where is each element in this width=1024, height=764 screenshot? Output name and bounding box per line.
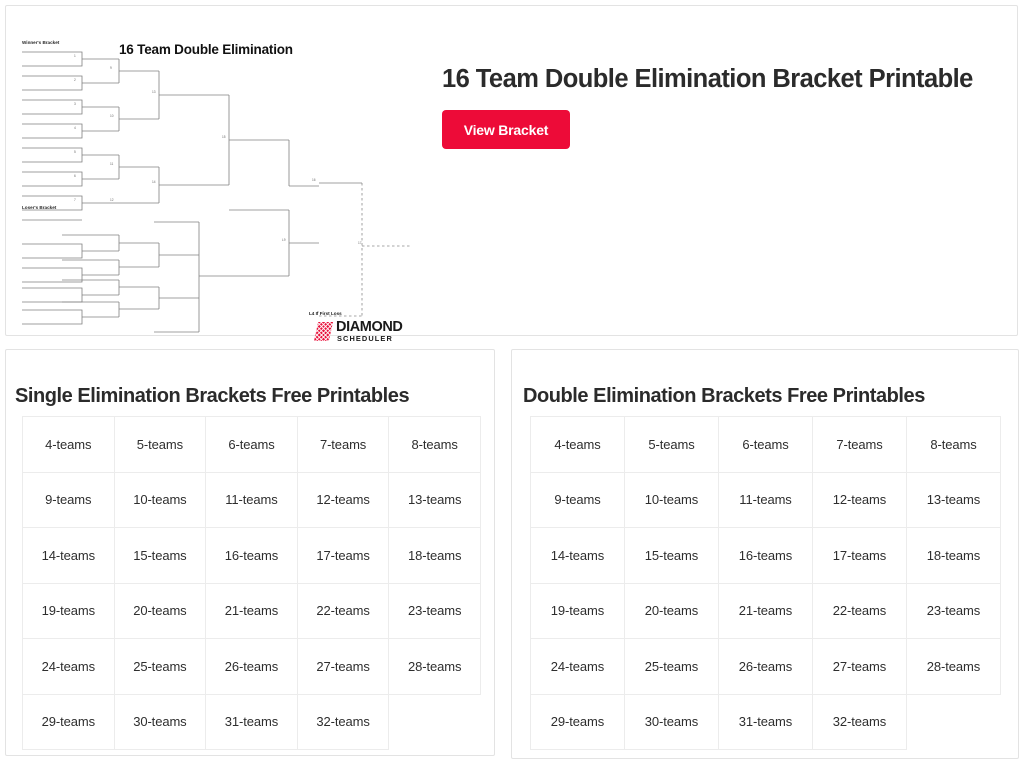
bracket-link[interactable]: 19-teams bbox=[551, 603, 604, 618]
bracket-link[interactable]: 18-teams bbox=[408, 548, 461, 563]
bracket-link-cell[interactable]: 8-teams bbox=[389, 417, 481, 473]
bracket-link-cell[interactable]: 12-teams bbox=[813, 472, 907, 528]
bracket-link[interactable]: 11-teams bbox=[739, 492, 791, 507]
bracket-link[interactable]: 12-teams bbox=[833, 492, 886, 507]
bracket-link-cell[interactable]: 10-teams bbox=[625, 472, 719, 528]
svg-text:12: 12 bbox=[110, 198, 114, 202]
bracket-link-cell[interactable]: 31-teams bbox=[206, 694, 298, 750]
bracket-link-cell[interactable]: 26-teams bbox=[719, 639, 813, 695]
svg-text:13: 13 bbox=[152, 90, 156, 94]
bracket-link-cell[interactable]: 13-teams bbox=[389, 472, 481, 528]
svg-text:4: 4 bbox=[74, 126, 76, 130]
svg-text:9: 9 bbox=[110, 66, 112, 70]
bracket-link[interactable]: 7-teams bbox=[836, 437, 882, 452]
bracket-link-cell[interactable]: 14-teams bbox=[23, 528, 115, 584]
bracket-preview-image[interactable]: Winner's Bracket 16 Team Double Eliminat… bbox=[14, 14, 426, 334]
single-elimination-heading: Single Elimination Brackets Free Printab… bbox=[15, 385, 409, 408]
bracket-link[interactable]: 11-teams bbox=[225, 492, 277, 507]
bracket-link[interactable]: 5-teams bbox=[648, 437, 694, 452]
bracket-link[interactable]: 13-teams bbox=[408, 492, 461, 507]
bracket-link-cell[interactable]: 29-teams bbox=[23, 694, 115, 750]
bracket-link-cell[interactable]: 19-teams bbox=[531, 583, 625, 639]
bracket-link[interactable]: 25-teams bbox=[133, 659, 186, 674]
svg-text:2: 2 bbox=[74, 78, 76, 82]
bracket-link-cell[interactable]: 27-teams bbox=[813, 639, 907, 695]
bracket-link[interactable]: 15-teams bbox=[133, 548, 186, 563]
bracket-link-cell[interactable]: 22-teams bbox=[297, 583, 389, 639]
bracket-link-cell[interactable]: 30-teams bbox=[625, 694, 719, 750]
first-loss-note: L4 If First Loss bbox=[309, 311, 342, 316]
bracket-link[interactable]: 6-teams bbox=[228, 437, 274, 452]
bracket-link-cell[interactable]: 14-teams bbox=[531, 528, 625, 584]
bracket-link[interactable]: 23-teams bbox=[927, 603, 980, 618]
table-row: 4-teams5-teams6-teams7-teams8-teams bbox=[23, 417, 481, 473]
bracket-link[interactable]: 27-teams bbox=[316, 659, 369, 674]
svg-text:17: 17 bbox=[358, 241, 362, 245]
bracket-link-cell[interactable]: 21-teams bbox=[719, 583, 813, 639]
bracket-link[interactable]: 20-teams bbox=[133, 603, 186, 618]
double-elimination-table-body: 4-teams5-teams6-teams7-teams8-teams9-tea… bbox=[531, 417, 1001, 750]
single-elimination-table-body: 4-teams5-teams6-teams7-teams8-teams9-tea… bbox=[23, 417, 481, 750]
bracket-link-cell[interactable]: 25-teams bbox=[625, 639, 719, 695]
bracket-link[interactable]: 9-teams bbox=[554, 492, 600, 507]
bracket-link-cell[interactable]: 19-teams bbox=[23, 583, 115, 639]
table-row: 4-teams5-teams6-teams7-teams8-teams bbox=[531, 417, 1001, 473]
bracket-link-cell[interactable]: 5-teams bbox=[625, 417, 719, 473]
bracket-link[interactable]: 16-teams bbox=[739, 548, 792, 563]
table-row: 9-teams10-teams11-teams12-teams13-teams bbox=[531, 472, 1001, 528]
bracket-link[interactable]: 25-teams bbox=[645, 659, 698, 674]
double-elimination-card: Double Elimination Brackets Free Printab… bbox=[511, 349, 1019, 759]
diamond-logo-icon bbox=[314, 322, 333, 341]
bracket-link[interactable]: 14-teams bbox=[42, 548, 95, 563]
bracket-link-cell[interactable]: 32-teams bbox=[297, 694, 389, 750]
bracket-link-cell[interactable]: 6-teams bbox=[719, 417, 813, 473]
bracket-link[interactable]: 16-teams bbox=[225, 548, 278, 563]
bracket-link[interactable]: 26-teams bbox=[739, 659, 792, 674]
single-elimination-table: 4-teams5-teams6-teams7-teams8-teams9-tea… bbox=[22, 416, 481, 750]
table-row: 24-teams25-teams26-teams27-teams28-teams bbox=[531, 639, 1001, 695]
bracket-link-cell[interactable]: 24-teams bbox=[23, 639, 115, 695]
bracket-link-cell[interactable]: 12-teams bbox=[297, 472, 389, 528]
bracket-link[interactable]: 24-teams bbox=[42, 659, 95, 674]
double-elimination-table: 4-teams5-teams6-teams7-teams8-teams9-tea… bbox=[530, 416, 1001, 750]
bracket-link[interactable]: 20-teams bbox=[645, 603, 698, 618]
hero-card: Winner's Bracket 16 Team Double Eliminat… bbox=[5, 5, 1018, 336]
bracket-link[interactable]: 10-teams bbox=[645, 492, 698, 507]
bracket-link[interactable]: 14-teams bbox=[551, 548, 604, 563]
bracket-link[interactable]: 17-teams bbox=[316, 548, 369, 563]
bracket-link-cell[interactable]: 6-teams bbox=[206, 417, 298, 473]
bracket-link-cell[interactable]: 28-teams bbox=[389, 639, 481, 695]
svg-text:7: 7 bbox=[74, 198, 76, 202]
bracket-link[interactable]: 18-teams bbox=[927, 548, 980, 563]
bracket-link[interactable]: 29-teams bbox=[42, 714, 95, 729]
bracket-link[interactable]: 30-teams bbox=[645, 714, 698, 729]
bracket-link[interactable]: 22-teams bbox=[833, 603, 886, 618]
bracket-link-cell[interactable]: 18-teams bbox=[907, 528, 1001, 584]
bracket-link[interactable]: 32-teams bbox=[833, 714, 886, 729]
bracket-link-cell[interactable]: 17-teams bbox=[297, 528, 389, 584]
bracket-link-cell[interactable]: 8-teams bbox=[907, 417, 1001, 473]
view-bracket-button[interactable]: View Bracket bbox=[442, 110, 570, 149]
bracket-link-cell[interactable]: 31-teams bbox=[719, 694, 813, 750]
bracket-link[interactable]: 31-teams bbox=[225, 714, 278, 729]
bracket-link[interactable]: 26-teams bbox=[225, 659, 278, 674]
table-row: 14-teams15-teams16-teams17-teams18-teams bbox=[23, 528, 481, 584]
bracket-link[interactable]: 19-teams bbox=[42, 603, 95, 618]
bracket-link[interactable]: 21-teams bbox=[739, 603, 792, 618]
double-elimination-heading: Double Elimination Brackets Free Printab… bbox=[523, 385, 925, 408]
bracket-link-cell[interactable]: 17-teams bbox=[813, 528, 907, 584]
bracket-link[interactable]: 10-teams bbox=[133, 492, 186, 507]
logo-subtext: SCHEDULER bbox=[337, 334, 393, 343]
bracket-link[interactable]: 15-teams bbox=[645, 548, 698, 563]
bracket-link[interactable]: 4-teams bbox=[45, 437, 91, 452]
svg-text:15: 15 bbox=[222, 135, 226, 139]
svg-text:16: 16 bbox=[312, 178, 316, 182]
bracket-link[interactable]: 8-teams bbox=[412, 437, 458, 452]
svg-text:6: 6 bbox=[74, 174, 76, 178]
bracket-link-cell[interactable]: 10-teams bbox=[114, 472, 206, 528]
bracket-link-cell[interactable]: 22-teams bbox=[813, 583, 907, 639]
bracket-link[interactable]: 9-teams bbox=[45, 492, 91, 507]
table-row: 9-teams10-teams11-teams12-teams13-teams bbox=[23, 472, 481, 528]
bracket-link-cell[interactable]: 20-teams bbox=[625, 583, 719, 639]
table-row: 24-teams25-teams26-teams27-teams28-teams bbox=[23, 639, 481, 695]
table-row: 19-teams20-teams21-teams22-teams23-teams bbox=[23, 583, 481, 639]
table-cell-empty bbox=[907, 694, 1001, 750]
bracket-link-cell[interactable]: 23-teams bbox=[907, 583, 1001, 639]
bracket-link[interactable]: 4-teams bbox=[554, 437, 600, 452]
table-row: 29-teams30-teams31-teams32-teams bbox=[531, 694, 1001, 750]
bracket-link[interactable]: 30-teams bbox=[133, 714, 186, 729]
bracket-link-cell[interactable]: 16-teams bbox=[719, 528, 813, 584]
bracket-link-cell[interactable]: 5-teams bbox=[114, 417, 206, 473]
bracket-link-cell[interactable]: 30-teams bbox=[114, 694, 206, 750]
bracket-link-cell[interactable]: 24-teams bbox=[531, 639, 625, 695]
bracket-link[interactable]: 17-teams bbox=[833, 548, 886, 563]
bracket-link[interactable]: 31-teams bbox=[739, 714, 792, 729]
bracket-link-cell[interactable]: 23-teams bbox=[389, 583, 481, 639]
bracket-link-cell[interactable]: 18-teams bbox=[389, 528, 481, 584]
svg-text:5: 5 bbox=[74, 150, 76, 154]
svg-text:1: 1 bbox=[74, 54, 76, 58]
bracket-link[interactable]: 13-teams bbox=[927, 492, 980, 507]
bracket-link-cell[interactable]: 7-teams bbox=[297, 417, 389, 473]
bracket-link-cell[interactable]: 25-teams bbox=[114, 639, 206, 695]
bracket-link-cell[interactable]: 20-teams bbox=[114, 583, 206, 639]
bracket-link[interactable]: 24-teams bbox=[551, 659, 604, 674]
table-cell-empty bbox=[389, 694, 481, 750]
bracket-link-cell[interactable]: 9-teams bbox=[531, 472, 625, 528]
logo-wordmark: DIAMOND bbox=[336, 320, 402, 335]
svg-text:14: 14 bbox=[152, 180, 156, 184]
bracket-link-cell[interactable]: 4-teams bbox=[23, 417, 115, 473]
svg-text:10: 10 bbox=[110, 114, 114, 118]
hero-content: 16 Team Double Elimination Bracket Print… bbox=[436, 6, 1017, 335]
bracket-link-cell[interactable]: 11-teams bbox=[206, 472, 298, 528]
bracket-link-cell[interactable]: 13-teams bbox=[907, 472, 1001, 528]
bracket-link[interactable]: 12-teams bbox=[316, 492, 369, 507]
table-row: 14-teams15-teams16-teams17-teams18-teams bbox=[531, 528, 1001, 584]
bracket-link[interactable]: 6-teams bbox=[742, 437, 788, 452]
diamond-scheduler-logo: DIAMOND SCHEDULER bbox=[314, 319, 424, 345]
bracket-link[interactable]: 27-teams bbox=[833, 659, 886, 674]
bracket-link-cell[interactable]: 29-teams bbox=[531, 694, 625, 750]
bracket-link[interactable]: 8-teams bbox=[930, 437, 976, 452]
bracket-link-cell[interactable]: 21-teams bbox=[206, 583, 298, 639]
bracket-link[interactable]: 29-teams bbox=[551, 714, 604, 729]
bracket-link[interactable]: 23-teams bbox=[408, 603, 461, 618]
bracket-link-cell[interactable]: 4-teams bbox=[531, 417, 625, 473]
bracket-link-cell[interactable]: 11-teams bbox=[719, 472, 813, 528]
svg-text:L9: L9 bbox=[282, 238, 286, 242]
bracket-diagram-svg: 12 34 56 7 910 1112 1314 15 16 L9 17 bbox=[14, 14, 426, 334]
bracket-link-cell[interactable]: 15-teams bbox=[625, 528, 719, 584]
bracket-link-cell[interactable]: 28-teams bbox=[907, 639, 1001, 695]
bracket-link[interactable]: 5-teams bbox=[137, 437, 183, 452]
bracket-link-cell[interactable]: 9-teams bbox=[23, 472, 115, 528]
bracket-link[interactable]: 22-teams bbox=[316, 603, 369, 618]
bracket-link-cell[interactable]: 27-teams bbox=[297, 639, 389, 695]
svg-text:3: 3 bbox=[74, 102, 76, 106]
bracket-link[interactable]: 21-teams bbox=[225, 603, 278, 618]
svg-text:11: 11 bbox=[110, 162, 114, 166]
bracket-link-cell[interactable]: 26-teams bbox=[206, 639, 298, 695]
bracket-link[interactable]: 28-teams bbox=[408, 659, 461, 674]
bracket-link[interactable]: 28-teams bbox=[927, 659, 980, 674]
bracket-link[interactable]: 32-teams bbox=[316, 714, 369, 729]
table-row: 19-teams20-teams21-teams22-teams23-teams bbox=[531, 583, 1001, 639]
bracket-link[interactable]: 7-teams bbox=[320, 437, 366, 452]
single-elimination-card: Single Elimination Brackets Free Printab… bbox=[5, 349, 495, 756]
page-root: Winner's Bracket 16 Team Double Eliminat… bbox=[0, 0, 1024, 764]
bracket-link-cell[interactable]: 15-teams bbox=[114, 528, 206, 584]
bracket-link-cell[interactable]: 32-teams bbox=[813, 694, 907, 750]
bracket-link-cell[interactable]: 16-teams bbox=[206, 528, 298, 584]
page-title: 16 Team Double Elimination Bracket Print… bbox=[442, 65, 973, 94]
bracket-link-cell[interactable]: 7-teams bbox=[813, 417, 907, 473]
table-row: 29-teams30-teams31-teams32-teams bbox=[23, 694, 481, 750]
